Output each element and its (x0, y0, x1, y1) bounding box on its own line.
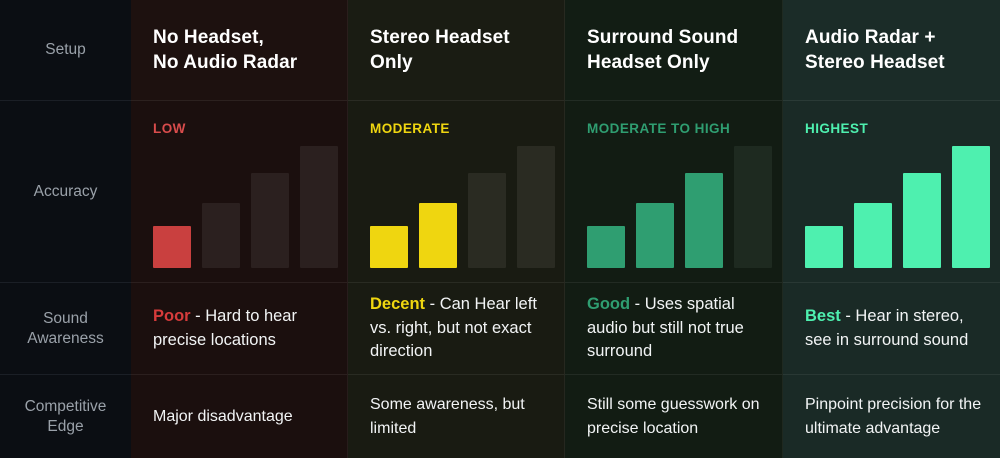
sound-awareness-text: Good - Uses spatial audio but still not … (587, 293, 764, 365)
accuracy-bar (854, 203, 892, 268)
header-line-1: Surround Sound (587, 27, 738, 48)
column-header-audio-radar-stereo: Audio Radar + Stereo Headset (783, 0, 1000, 101)
column-header-surround-headset-title: Surround Sound Headset Only (587, 25, 738, 75)
row-label-competitive-edge-text: Competitive Edge (25, 397, 107, 436)
accuracy-bar-chart (587, 142, 772, 268)
column-header-stereo-headset-title: Stereo Headset Only (370, 25, 510, 75)
competitive-edge-text: Major disadvantage (153, 405, 293, 428)
sound-awareness-text: Poor - Hard to hear precise locations (153, 305, 329, 353)
competitive-edge-text: Still some guesswork on precise location (587, 393, 764, 439)
accuracy-bar (370, 226, 408, 268)
header-line-1: No Headset, (153, 27, 264, 48)
header-line-1: Stereo Headset (370, 27, 510, 48)
accuracy-bar (419, 203, 457, 268)
accuracy-bar (300, 146, 338, 268)
sound-awareness-cell-surround-headset: Good - Uses spatial audio but still not … (565, 283, 783, 375)
header-line-1: Audio Radar + (805, 27, 936, 48)
sound-awareness-text: Decent - Can Hear left vs. right, but no… (370, 293, 546, 365)
accuracy-cell-stereo-headset: MODERATE (348, 101, 565, 283)
column-header-stereo-headset: Stereo Headset Only (348, 0, 565, 101)
sound-awareness-lead: Decent (370, 295, 425, 313)
accuracy-bar (517, 146, 555, 268)
accuracy-bar (805, 226, 843, 268)
accuracy-cell-surround-headset: MODERATE TO HIGH (565, 101, 783, 283)
column-header-no-headset-title: No Headset, No Audio Radar (153, 25, 297, 75)
accuracy-bar (952, 146, 990, 268)
competitive-edge-text: Pinpoint precision for the ultimate adva… (805, 393, 982, 439)
sound-awareness-lead: Best (805, 307, 841, 325)
row-label-setup-text: Setup (45, 40, 86, 59)
accuracy-cell-audio-radar-stereo: HIGHEST (783, 101, 1000, 283)
row-label-line-1: Sound (43, 310, 88, 327)
accuracy-bar (636, 203, 674, 268)
header-line-2: Only (370, 52, 413, 73)
header-line-2: Headset Only (587, 52, 710, 73)
accuracy-bar-chart (370, 142, 555, 268)
accuracy-bar-chart (805, 142, 990, 268)
column-header-surround-headset: Surround Sound Headset Only (565, 0, 783, 101)
competitive-edge-cell-audio-radar-stereo: Pinpoint precision for the ultimate adva… (783, 375, 1000, 458)
competitive-edge-cell-surround-headset: Still some guesswork on precise location (565, 375, 783, 458)
table-grid: Setup No Headset, No Audio Radar Stereo … (0, 0, 1000, 458)
row-label-accuracy: Accuracy (0, 101, 131, 283)
sound-awareness-lead: Poor (153, 307, 191, 325)
accuracy-cell-no-headset: LOW (131, 101, 348, 283)
accuracy-bar (903, 173, 941, 268)
accuracy-bar (685, 173, 723, 268)
sound-awareness-cell-no-headset: Poor - Hard to hear precise locations (131, 283, 348, 375)
competitive-edge-cell-no-headset: Major disadvantage (131, 375, 348, 458)
row-label-line-2: Edge (47, 418, 83, 435)
row-label-setup: Setup (0, 0, 131, 101)
column-header-no-headset: No Headset, No Audio Radar (131, 0, 348, 101)
row-label-competitive-edge: Competitive Edge (0, 375, 131, 458)
accuracy-bar (734, 146, 772, 268)
column-header-audio-radar-stereo-title: Audio Radar + Stereo Headset (805, 25, 945, 75)
accuracy-rating-label: HIGHEST (805, 121, 868, 136)
accuracy-bar (468, 173, 506, 268)
accuracy-rating-label: MODERATE TO HIGH (587, 121, 730, 136)
row-label-sound-awareness-text: Sound Awareness (27, 309, 103, 348)
row-label-line-2: Awareness (27, 330, 103, 347)
row-label-accuracy-text: Accuracy (34, 182, 98, 201)
accuracy-bar-chart (153, 142, 338, 268)
comparison-table: Setup No Headset, No Audio Radar Stereo … (0, 0, 1000, 458)
row-label-line-1: Competitive (25, 398, 107, 415)
sound-awareness-lead: Good (587, 295, 630, 313)
accuracy-bar (251, 173, 289, 268)
accuracy-rating-label: LOW (153, 121, 186, 136)
accuracy-rating-label: MODERATE (370, 121, 450, 136)
accuracy-bar (202, 203, 240, 268)
accuracy-bar (587, 226, 625, 268)
accuracy-bar (153, 226, 191, 268)
header-line-2: No Audio Radar (153, 52, 297, 73)
row-label-sound-awareness: Sound Awareness (0, 283, 131, 375)
competitive-edge-cell-stereo-headset: Some awareness, but limited (348, 375, 565, 458)
sound-awareness-cell-audio-radar-stereo: Best - Hear in stereo, see in surround s… (783, 283, 1000, 375)
header-line-2: Stereo Headset (805, 52, 945, 73)
competitive-edge-text: Some awareness, but limited (370, 393, 546, 439)
sound-awareness-text: Best - Hear in stereo, see in surround s… (805, 305, 982, 353)
sound-awareness-cell-stereo-headset: Decent - Can Hear left vs. right, but no… (348, 283, 565, 375)
